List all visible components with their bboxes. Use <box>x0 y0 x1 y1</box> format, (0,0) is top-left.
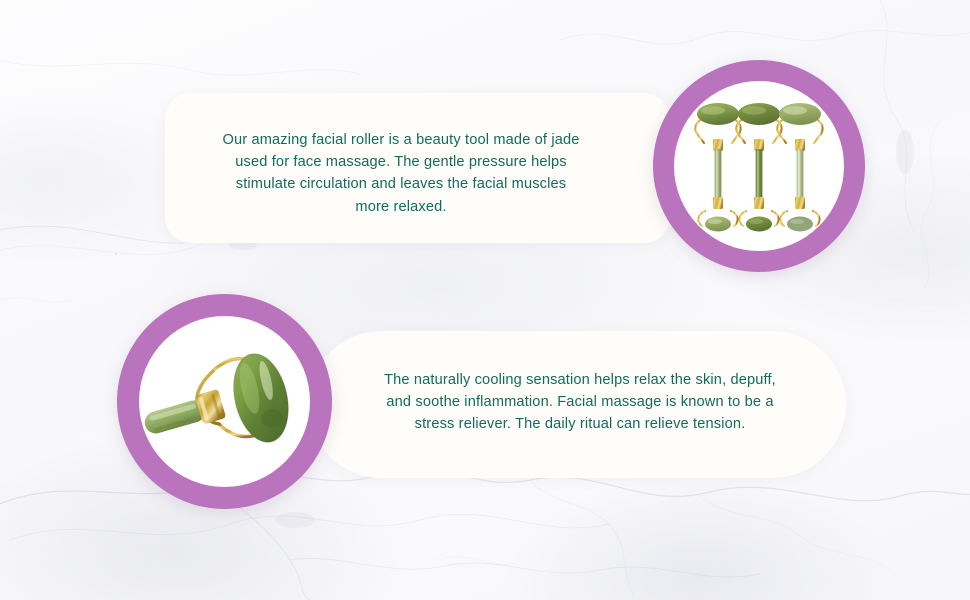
three-jade-rollers-illustration <box>674 81 844 251</box>
medallion-photo-bottom <box>139 316 310 487</box>
jade-roller-1 <box>696 103 741 232</box>
jade-roller-2 <box>737 103 782 232</box>
info-card-bottom-text: The naturally cooling sensation helps re… <box>360 369 800 436</box>
three-jade-facial-rollers-medallion <box>653 60 865 272</box>
product-infographic: Our amazing facial roller is a beauty to… <box>0 0 970 600</box>
jade-roller-3 <box>778 103 823 232</box>
medallion-photo-top <box>674 81 844 251</box>
single-jade-roller-illustration <box>139 316 310 487</box>
single-jade-facial-roller-medallion <box>117 294 332 509</box>
info-card-top-text: Our amazing facial roller is a beauty to… <box>196 129 606 218</box>
